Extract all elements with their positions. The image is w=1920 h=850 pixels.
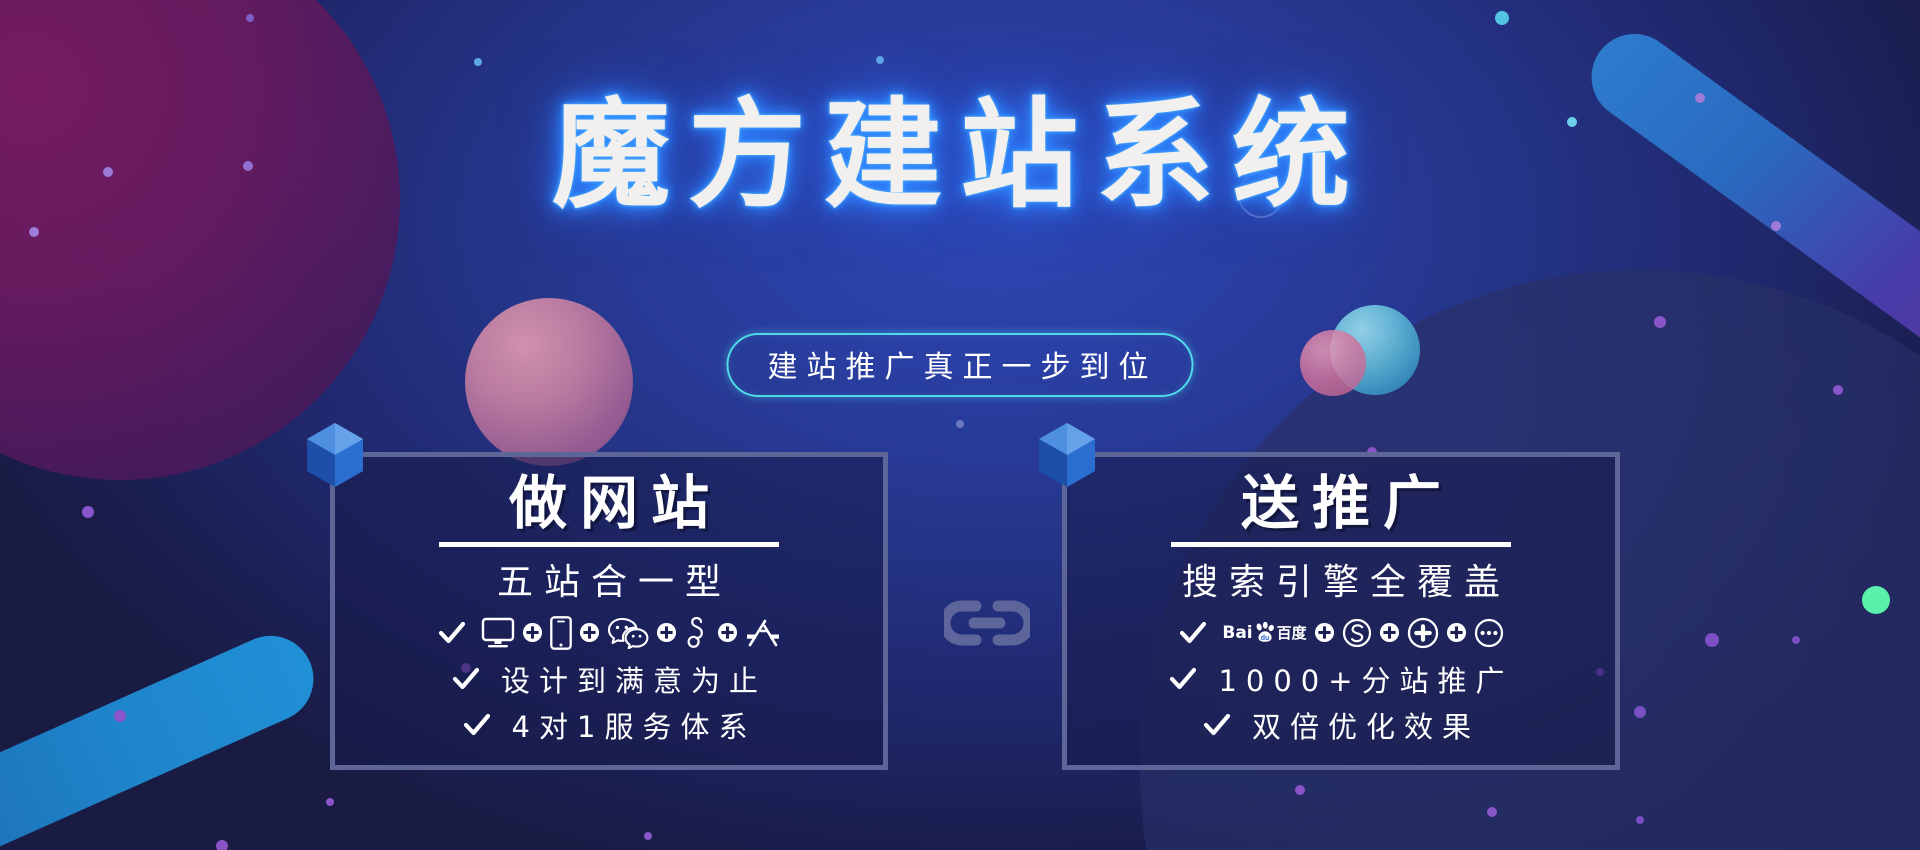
panel-free-promotion[interactable]: 送推广 搜索引擎全覆盖 Bai [1062,452,1620,770]
main-headline: 魔方建站系统 [0,96,1920,214]
dot-decoration [1495,11,1509,25]
feature-row-design: 设计到满意为止 [451,657,767,701]
subtitle-pill: 建站推广真正一步到位 [727,333,1194,397]
dot-decoration [246,14,254,22]
plus-icon [1446,622,1467,643]
dot-decoration [644,832,652,840]
baidu-text-en: Bai [1222,623,1252,643]
plus-icon [522,622,543,643]
panel-make-website[interactable]: 做网站 五站合一型 [330,452,888,770]
plus-icon [717,622,738,643]
feature-row-search-engines: Bai du 百度 [1178,611,1503,655]
check-icon [462,710,492,740]
panel-title-free-promotion: 送推广 [1228,473,1454,534]
feature-row-substations: 1000+分站推广 [1168,657,1513,701]
sogou-icon [1342,618,1372,648]
baidu-paw-icon: du [1254,622,1276,643]
platform-icon-strip [481,616,781,650]
panel-title-underline [439,542,779,547]
app-store-icon [745,617,781,649]
baidu-text-du: du [1260,635,1269,642]
check-icon [451,664,481,694]
dot-decoration [216,840,228,850]
check-icon [437,618,467,648]
dot-decoration [956,420,964,428]
plus-icon [1314,622,1335,643]
dot-decoration [1833,385,1843,395]
cyan-sphere-decoration [1330,305,1420,395]
purple-circle-decoration [0,0,400,480]
check-icon [1168,664,1198,694]
dot-decoration [1654,316,1666,328]
dot-decoration [1636,816,1644,824]
panel-subtitle-make-website: 五站合一型 [486,553,732,605]
panel-subtitle-free-promotion: 搜索引擎全覆盖 [1171,553,1511,605]
dot-decoration [1487,807,1497,817]
wechat-icon [607,617,649,649]
search-engine-icon-strip: Bai du 百度 [1222,617,1503,649]
small-pink-sphere-decoration [1300,330,1366,396]
baidu-text-cn: 百度 [1277,622,1307,643]
plus-icon [579,622,600,643]
music-note-icon [684,616,710,650]
mobile-phone-icon [550,616,572,650]
dot-decoration [1295,785,1305,795]
promotional-banner: 魔方建站系统 建站推广真正一步到位 做网站 五站合一型 [0,0,1920,850]
baidu-logo-icon: Bai du 百度 [1222,622,1306,643]
chain-link-icon [944,598,1030,648]
check-icon [1202,710,1232,740]
feature-text-substations: 1000+分站推广 [1212,658,1513,700]
plus-icon [1379,622,1400,643]
feature-row-optimization: 双倍优化效果 [1202,703,1480,747]
360-search-icon [1407,617,1439,649]
dot-decoration [29,227,39,237]
feature-row-service: 4对1服务体系 [462,703,757,747]
panel-title-underline [1171,542,1511,547]
feature-row-platform-icons [437,611,781,655]
dot-decoration [1771,221,1781,231]
plus-icon [656,622,677,643]
dot-decoration [876,56,884,64]
more-dots-icon [1474,618,1504,648]
feature-text-design: 设计到满意为止 [495,658,767,700]
feature-text-optimization: 双倍优化效果 [1246,704,1480,746]
desktop-monitor-icon [481,617,515,649]
feature-text-service: 4对1服务体系 [506,704,757,746]
panel-title-make-website: 做网站 [496,473,722,534]
dot-decoration [326,798,334,806]
subtitle-text: 建站推广真正一步到位 [763,342,1158,386]
dot-decoration [474,58,482,66]
pink-sphere-decoration [465,298,633,466]
check-icon [1178,618,1208,648]
